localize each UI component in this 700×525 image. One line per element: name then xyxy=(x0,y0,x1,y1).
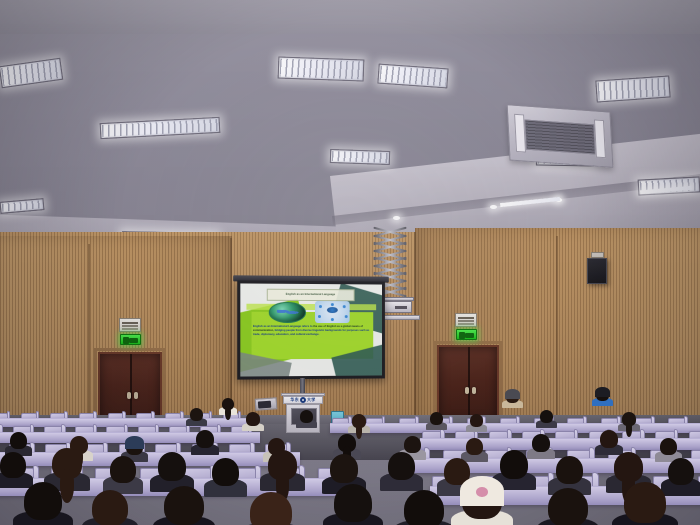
audience-member xyxy=(500,450,528,485)
wall-speaker-icon xyxy=(587,258,607,284)
audience-member xyxy=(622,412,636,429)
laptop-icon xyxy=(258,401,271,409)
ponytail xyxy=(225,406,231,420)
head xyxy=(600,430,618,448)
av-side-table[interactable] xyxy=(255,397,278,411)
screen-surface: English as an International Language Eng… xyxy=(240,283,382,376)
network-icon xyxy=(315,301,350,322)
audience-member xyxy=(668,458,694,491)
head xyxy=(668,458,694,485)
audience-member xyxy=(404,490,444,525)
head xyxy=(388,452,415,480)
head xyxy=(548,488,588,525)
slide-body-lead: English as an International Language ref… xyxy=(253,325,313,328)
audience-member xyxy=(600,430,618,452)
head xyxy=(556,456,583,484)
ac-vent xyxy=(594,119,606,158)
screen-frame: English as an International Language Eng… xyxy=(237,280,385,379)
audience-member xyxy=(624,482,666,525)
wall-seam xyxy=(88,244,90,430)
cap-icon xyxy=(595,387,609,397)
head xyxy=(24,482,62,520)
exit-sign-right xyxy=(456,329,477,340)
ceiling-light-4 xyxy=(330,149,390,165)
head xyxy=(196,430,214,448)
door-handle[interactable] xyxy=(127,392,131,399)
lectern-text-right: 大学 xyxy=(307,397,316,403)
audience-member xyxy=(212,458,239,492)
audience-member xyxy=(430,412,443,428)
head xyxy=(540,410,553,423)
seated-student xyxy=(222,398,234,413)
notice-plate-right xyxy=(455,313,477,327)
audience-member xyxy=(352,414,366,431)
slide-title-text: English as an International Language xyxy=(284,293,337,297)
head xyxy=(466,438,483,455)
audience-member xyxy=(338,434,356,456)
wall-seam xyxy=(414,232,416,428)
head xyxy=(110,456,136,483)
head xyxy=(92,490,128,525)
head xyxy=(404,490,444,525)
desk-row xyxy=(0,452,300,466)
air-conditioner-icon xyxy=(507,104,614,168)
ceiling-top-band xyxy=(0,0,700,34)
audience-member xyxy=(0,452,26,484)
ponytail xyxy=(356,423,363,438)
audience-member xyxy=(466,438,483,459)
head xyxy=(246,412,260,426)
globe-icon xyxy=(269,302,306,322)
head xyxy=(164,486,204,525)
person-with-white-cap xyxy=(462,480,502,525)
head xyxy=(158,452,186,481)
ponytail xyxy=(626,421,633,436)
audience-member xyxy=(164,486,204,525)
cap-icon xyxy=(125,436,143,449)
head xyxy=(190,408,203,421)
cap-logo-icon xyxy=(476,487,488,498)
lecture-hall-photo: English as an International Language Eng… xyxy=(0,0,700,525)
head xyxy=(470,414,483,427)
head xyxy=(330,454,358,483)
audience-member xyxy=(532,434,550,456)
exit-sign-left xyxy=(120,334,141,345)
lectern-text-left: 华东 xyxy=(290,397,299,403)
audience-member xyxy=(24,482,62,525)
head xyxy=(10,432,27,449)
audience-member xyxy=(92,490,128,525)
head xyxy=(334,484,372,522)
audience-member xyxy=(250,492,292,525)
head xyxy=(404,436,421,453)
audience-member xyxy=(196,430,214,452)
audience-member xyxy=(246,412,260,429)
audience-member xyxy=(300,410,313,426)
notice-plate-left xyxy=(119,318,141,332)
head xyxy=(300,410,313,423)
slide-title: English as an International Language xyxy=(266,288,354,300)
ac-vent xyxy=(514,114,526,153)
wall-seam xyxy=(556,236,558,426)
audience-member xyxy=(158,452,186,487)
audience-member xyxy=(10,432,27,453)
audience-member xyxy=(388,452,415,486)
slide-shape-lime-edge xyxy=(246,304,376,310)
audience-member xyxy=(540,410,553,426)
right-door[interactable] xyxy=(437,345,499,423)
head xyxy=(624,482,666,523)
audience-member xyxy=(334,484,372,525)
slide-body-text: English as an International Language ref… xyxy=(252,325,371,362)
ceiling-light-2 xyxy=(278,57,365,82)
audience-member xyxy=(556,456,583,490)
desk-row xyxy=(420,438,700,450)
head xyxy=(0,452,26,478)
audience-member xyxy=(52,448,82,486)
audience-member xyxy=(660,438,677,459)
standing-person-tan-jacket xyxy=(506,390,519,406)
cap-icon xyxy=(505,389,519,399)
door-handle[interactable] xyxy=(134,392,138,399)
head xyxy=(660,438,677,455)
door-handle[interactable] xyxy=(472,387,476,394)
audience-member xyxy=(470,414,483,430)
door-handle[interactable] xyxy=(465,387,469,394)
projection-screen[interactable]: English as an International Language Eng… xyxy=(237,280,385,379)
lectern-nameplate: 华东 大学 xyxy=(283,396,323,404)
head xyxy=(212,458,239,486)
audience-member xyxy=(190,408,203,424)
standing-person-blue-jacket xyxy=(596,388,609,404)
audience-member xyxy=(268,450,297,486)
ac-grille xyxy=(524,119,595,154)
audience-member xyxy=(110,456,136,489)
head xyxy=(430,412,443,425)
audience-member xyxy=(548,488,588,525)
university-crest-icon xyxy=(300,397,306,403)
head xyxy=(500,450,528,479)
head xyxy=(532,434,550,452)
